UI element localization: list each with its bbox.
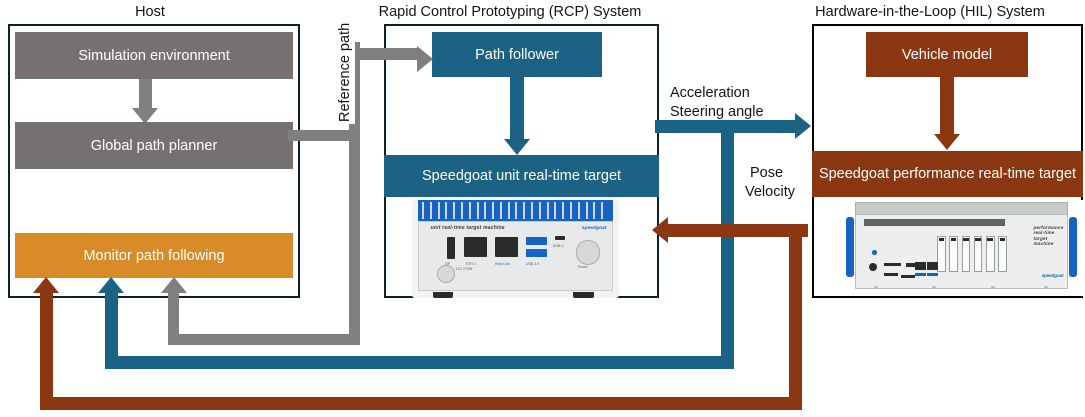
rack-usb-port-a (915, 273, 925, 276)
unit-port-label-eth1: ETH 1 (466, 262, 476, 266)
label-acceleration: Acceleration (670, 84, 750, 103)
rack-card-slot (974, 236, 983, 272)
unit-port-label-voltage: 12V 270W (455, 267, 472, 271)
blue-tee-down (721, 120, 734, 368)
rack-card-slot (949, 236, 958, 272)
rack-card-slot (998, 236, 1007, 272)
photo-speedgoat-performance-target-machine: performance real-time target machine spe… (840, 200, 1083, 296)
rack-status-led (872, 250, 877, 255)
brown-hil-to-rcp-arrowhead (652, 217, 668, 243)
rack-speedgoat-logo: speedgoat (1042, 273, 1064, 278)
reference-path-arrowhead (417, 46, 433, 72)
gray-feedback-down (349, 134, 360, 345)
rack-card-slot (937, 236, 946, 272)
unit-speedgoat-logo: speedgoat (582, 225, 607, 230)
unit-usb30-port-upper (526, 237, 547, 245)
block-vehicle-model[interactable]: Vehicle model (866, 32, 1028, 77)
connector-sim-to-planner-shaft (139, 79, 152, 108)
rack-connector-round (869, 263, 877, 271)
brown-up-to-monitor (40, 292, 53, 403)
blue-up-to-monitor (105, 292, 118, 362)
rack-connector-hdmi (901, 275, 916, 278)
group-title-rcp: Rapid Control Prototyping (RCP) System (355, 4, 665, 21)
unit-foot-left (433, 292, 454, 298)
block-global-path-planner[interactable]: Global path planner (15, 122, 293, 169)
gray-feedback-arrowhead (161, 277, 187, 293)
block-speedgoat-unit-target[interactable]: Speedgoat unit real-time target (384, 155, 659, 197)
unit-power-button (576, 240, 601, 265)
photo-speedgoat-unit-target-machine: unit real-time target machine speedgoat … (412, 200, 619, 298)
unit-hostlink-port (495, 237, 518, 257)
group-title-host: Host (0, 4, 300, 21)
rack-screw (991, 286, 995, 289)
unit-model-text: unit real-time target machine (431, 225, 505, 231)
rack-eth-port-right (927, 262, 937, 270)
rack-model-text: performance real-time target machine (1034, 225, 1064, 247)
group-title-hil: Hardware-in-the-Loop (HIL) System (775, 4, 1085, 21)
unit-port-label-usbc: USB-C (553, 244, 564, 248)
unit-usbc-port (555, 236, 565, 240)
unit-port-label-hostlink: Host Link (495, 262, 510, 266)
unit-foot-right (573, 292, 594, 298)
blue-monitor-arrowhead (98, 277, 124, 293)
connector-follower-to-unit-shaft (510, 77, 524, 139)
connector-follower-to-unit-arrowhead (504, 139, 530, 155)
gray-feedback-up-to-monitor (168, 292, 179, 339)
rack-connector-dp (884, 273, 899, 276)
unit-port-label-dp: DP (445, 262, 450, 266)
rack-card-slot (962, 236, 971, 272)
rack-eth-port-left (915, 262, 925, 270)
block-speedgoat-performance-target[interactable]: Speedgoat performance real-time target (812, 151, 1083, 197)
unit-port-label-power: Power (578, 265, 588, 269)
rack-vent-grille (864, 219, 1005, 226)
label-reference-path: Reference path (336, 21, 355, 124)
brown-bottom-run (40, 397, 802, 410)
unit-displayport (447, 237, 455, 259)
reference-path-run-to-follower (355, 48, 417, 60)
block-simulation-environment[interactable]: Simulation environment (15, 32, 293, 79)
rack-top-cover (855, 202, 1069, 215)
gray-feedback-bottom (168, 334, 360, 345)
unit-usb30-port-lower (526, 249, 547, 257)
unit-cooling-fins (418, 200, 613, 222)
rack-card-slot (986, 236, 995, 272)
blue-rcp-to-hil-arrowhead (795, 113, 811, 139)
block-monitor-path-following[interactable]: Monitor path following (15, 233, 293, 278)
brown-monitor-arrowhead (33, 277, 59, 293)
rack-connector-serial (884, 263, 901, 266)
brown-tee-down (789, 224, 802, 409)
block-path-follower[interactable]: Path follower (432, 32, 602, 77)
rack-usb-port-b (927, 273, 937, 276)
diagram-canvas: Host Simulation environment Global path … (0, 0, 1085, 417)
unit-eth1-port (464, 237, 487, 257)
rack-ear-right (1069, 217, 1077, 277)
brown-hil-to-rcp-run (668, 224, 808, 237)
rack-ear-left (846, 217, 854, 277)
connector-vehicle-to-performance-arrowhead (934, 134, 960, 150)
connector-vehicle-to-performance-shaft (940, 77, 954, 134)
label-velocity: Velocity (745, 183, 795, 202)
label-pose: Pose (750, 164, 783, 183)
blue-bottom-run (105, 356, 734, 369)
unit-port-label-usb30: USB 3.0 (526, 262, 539, 266)
